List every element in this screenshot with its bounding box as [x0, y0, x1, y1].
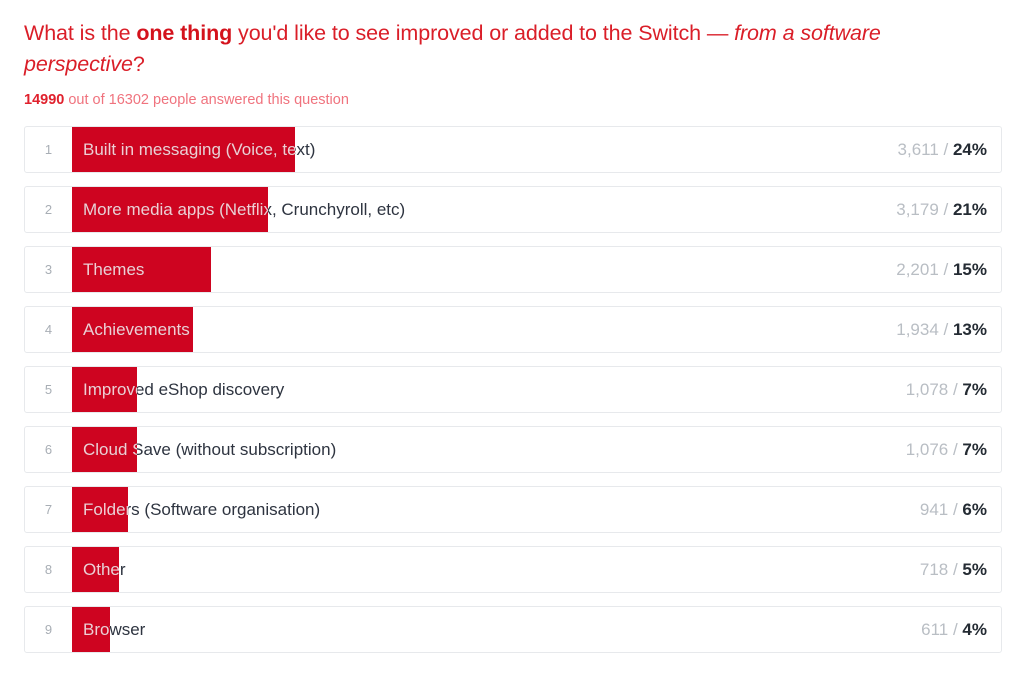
vote-count: 1,934 [896, 320, 939, 339]
vote-percent: 15% [953, 260, 987, 279]
bar-fill [72, 247, 211, 292]
stats-separator: / [939, 200, 953, 219]
results-list: 1Built in messaging (Voice, text)Built i… [0, 126, 1024, 653]
vote-count: 941 [920, 500, 948, 519]
bar-area: BrowserBrowser [72, 607, 921, 652]
responses-suffix: out of 16302 people answered this questi… [64, 92, 349, 108]
row-stats: 941 / 6% [920, 487, 1001, 532]
result-row[interactable]: 9BrowserBrowser611 / 4% [24, 606, 1002, 653]
result-row[interactable]: 8OtherOther718 / 5% [24, 546, 1002, 593]
bar-fill [72, 547, 119, 592]
vote-count: 3,179 [896, 200, 939, 219]
bar-fill [72, 607, 110, 652]
bar-area: OtherOther [72, 547, 920, 592]
row-stats: 1,076 / 7% [906, 427, 1001, 472]
question-tail: ? [133, 52, 145, 76]
bar-area: Built in messaging (Voice, text)Built in… [72, 127, 898, 172]
vote-percent: 6% [962, 500, 987, 519]
vote-count: 1,078 [906, 380, 949, 399]
bar-fill [72, 127, 295, 172]
row-stats: 3,179 / 21% [896, 187, 1001, 232]
bar-fill [72, 487, 128, 532]
stats-separator: / [939, 320, 953, 339]
rank-number: 1 [25, 127, 72, 172]
result-row[interactable]: 6Cloud Save (without subscription)Cloud … [24, 426, 1002, 473]
row-stats: 1,934 / 13% [896, 307, 1001, 352]
result-row[interactable]: 5Improved eShop discoveryImproved eShop … [24, 366, 1002, 413]
response-summary: 14990 out of 16302 people answered this … [24, 91, 1000, 109]
result-row[interactable]: 3ThemesThemes2,201 / 15% [24, 246, 1002, 293]
responses-count: 14990 [24, 92, 64, 108]
vote-percent: 7% [962, 380, 987, 399]
row-stats: 611 / 4% [921, 607, 1001, 652]
result-row[interactable]: 4AchievementsAchievements1,934 / 13% [24, 306, 1002, 353]
bar-area: Cloud Save (without subscription)Cloud S… [72, 427, 906, 472]
bar-area: More media apps (Netflix, Crunchyroll, e… [72, 187, 896, 232]
bar-area: AchievementsAchievements [72, 307, 896, 352]
vote-count: 3,611 [898, 140, 939, 159]
vote-percent: 21% [953, 200, 987, 219]
rank-number: 9 [25, 607, 72, 652]
question-emphasis: one thing [136, 21, 232, 45]
page-title: What is the one thing you'd like to see … [24, 18, 944, 80]
result-row[interactable]: 7Folders (Software organisation)Folders … [24, 486, 1002, 533]
bar-fill [72, 427, 137, 472]
result-row[interactable]: 2More media apps (Netflix, Crunchyroll, … [24, 186, 1002, 233]
stats-separator: / [948, 380, 962, 399]
stats-separator: / [948, 620, 962, 639]
bar-area: ThemesThemes [72, 247, 896, 292]
question-lead: What is the [24, 21, 136, 45]
stats-separator: / [948, 560, 962, 579]
stats-separator: / [939, 260, 953, 279]
row-stats: 3,611 / 24% [898, 127, 1001, 172]
row-stats: 718 / 5% [920, 547, 1001, 592]
bar-fill [72, 367, 137, 412]
rank-number: 8 [25, 547, 72, 592]
vote-percent: 13% [953, 320, 987, 339]
rank-number: 2 [25, 187, 72, 232]
vote-percent: 7% [962, 440, 987, 459]
vote-count: 1,076 [906, 440, 949, 459]
vote-count: 718 [920, 560, 948, 579]
bar-fill [72, 307, 193, 352]
bar-fill [72, 187, 268, 232]
stats-separator: / [948, 500, 962, 519]
rank-number: 4 [25, 307, 72, 352]
vote-percent: 24% [953, 140, 987, 159]
rank-number: 3 [25, 247, 72, 292]
vote-count: 2,201 [896, 260, 939, 279]
rank-number: 5 [25, 367, 72, 412]
bar-area: Improved eShop discoveryImproved eShop d… [72, 367, 906, 412]
question-middle: you'd like to see improved or added to t… [232, 21, 734, 45]
rank-number: 6 [25, 427, 72, 472]
vote-count: 611 [921, 620, 948, 639]
result-row[interactable]: 1Built in messaging (Voice, text)Built i… [24, 126, 1002, 173]
question-header: What is the one thing you'd like to see … [0, 0, 1024, 109]
rank-number: 7 [25, 487, 72, 532]
row-stats: 1,078 / 7% [906, 367, 1001, 412]
vote-percent: 5% [962, 560, 987, 579]
bar-area: Folders (Software organisation)Folders (… [72, 487, 920, 532]
row-stats: 2,201 / 15% [896, 247, 1001, 292]
vote-percent: 4% [962, 620, 987, 639]
stats-separator: / [948, 440, 962, 459]
poll-results-page: What is the one thing you'd like to see … [0, 0, 1024, 678]
stats-separator: / [939, 140, 953, 159]
